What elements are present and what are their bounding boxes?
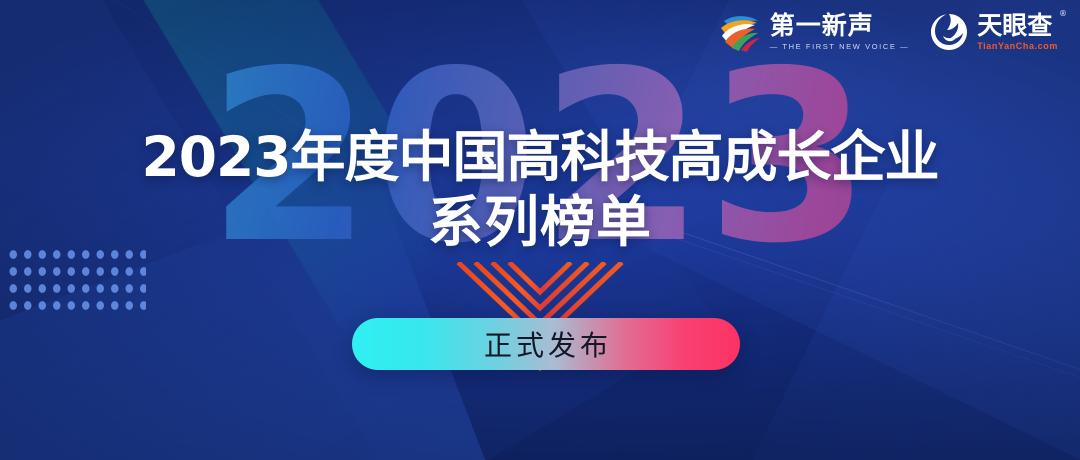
logo-tianyancha-name-text: 天眼查 <box>977 11 1052 40</box>
publish-cta-pill[interactable]: 正式发布 <box>352 318 740 370</box>
logo-diyixinsheng-name: 第一新声 <box>770 13 909 38</box>
logo-diyixinsheng[interactable]: 第一新声 — THE FIRST NEW VOICE — <box>718 12 909 52</box>
logo-group: 第一新声 — THE FIRST NEW VOICE — 天眼查® TianYa… <box>718 12 1058 52</box>
promo-banner: 2023 2023年度 <box>0 0 1080 460</box>
logo-diyixinsheng-tagline: — THE FIRST NEW VOICE — <box>770 43 909 51</box>
headline-line-2: 系列榜单 <box>0 192 1080 254</box>
headline-line-1: 2023年度中国高科技高成长企业 <box>0 128 1080 187</box>
logo-tianyancha[interactable]: 天眼查® TianYanCha.com <box>929 12 1058 52</box>
trademark-symbol: ® <box>1059 10 1067 18</box>
logo-tianyancha-name: 天眼查® <box>977 13 1058 38</box>
logo-tianyancha-domain: TianYanCha.com <box>977 42 1058 51</box>
tianyancha-eye-logo-icon <box>929 12 969 52</box>
diyixinsheng-swirl-logo-icon <box>718 12 762 52</box>
headline: 2023年度中国高科技高成长企业 系列榜单 <box>0 128 1080 254</box>
publish-cta-label: 正式发布 <box>480 324 612 364</box>
